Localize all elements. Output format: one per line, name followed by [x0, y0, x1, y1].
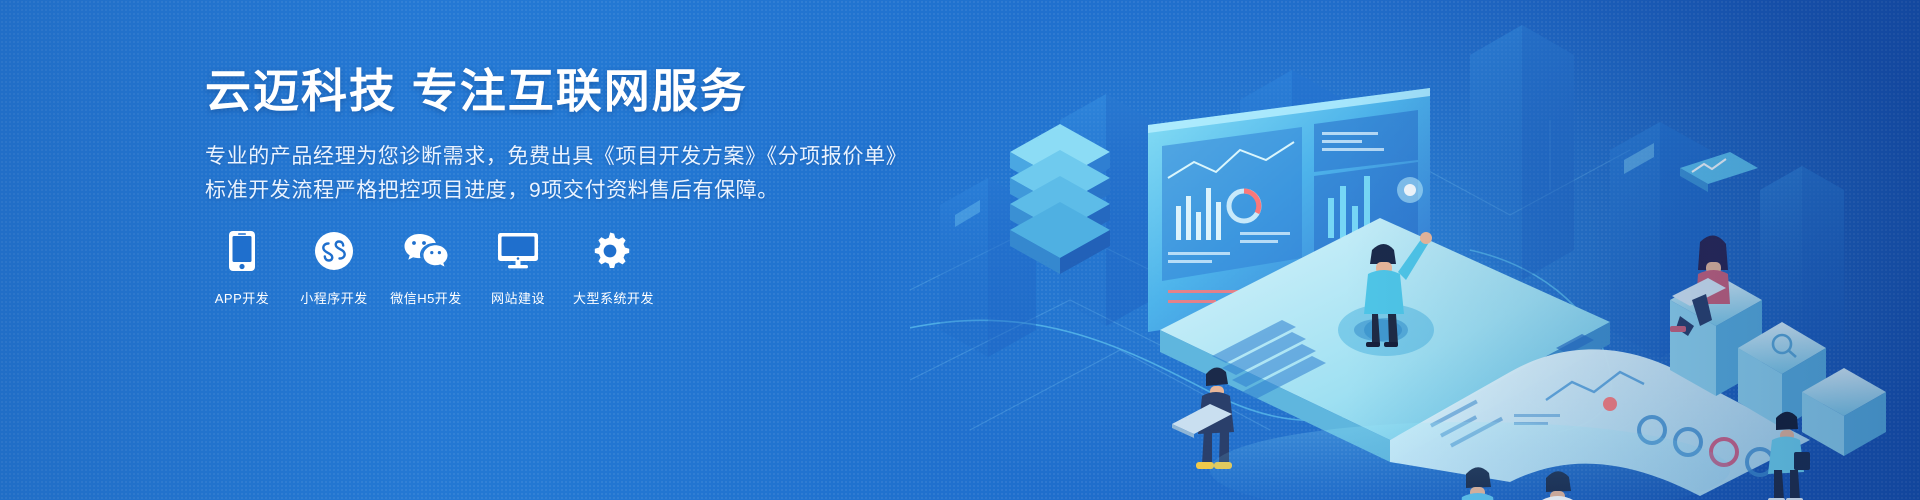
monitor-icon [481, 228, 555, 274]
hero-banner: 云迈科技 专注互联网服务 专业的产品经理为您诊断需求，免费出具《项目开发方案》《… [0, 0, 1920, 500]
service-label: 微信H5开发 [389, 288, 463, 307]
service-item-app[interactable]: APP开发 [205, 228, 279, 307]
page-title: 云迈科技 专注互联网服务 [205, 66, 945, 118]
service-item-wechat-h5[interactable]: 微信H5开发 [389, 228, 463, 307]
mini-program-icon [297, 228, 371, 274]
service-item-large-system[interactable]: 大型系统开发 [573, 228, 647, 307]
subtitle-line-2: 标准开发流程严格把控项目进度，9项交付资料售后有保障。 [205, 174, 945, 208]
service-label: 小程序开发 [297, 288, 371, 307]
service-icon-row: APP开发 小程序开发 [205, 228, 665, 307]
service-label: APP开发 [205, 288, 279, 307]
banner-copy: 云迈科技 专注互联网服务 专业的产品经理为您诊断需求，免费出具《项目开发方案》《… [205, 66, 945, 208]
isometric-tech-illustration [910, 0, 1920, 500]
subtitle-line-1: 专业的产品经理为您诊断需求，免费出具《项目开发方案》《分项报价单》 [205, 140, 945, 174]
mobile-phone-icon [205, 228, 279, 274]
wechat-icon [389, 228, 463, 274]
service-label: 网站建设 [481, 288, 555, 307]
service-item-website[interactable]: 网站建设 [481, 228, 555, 307]
gear-icon [573, 228, 647, 274]
service-item-mini-program[interactable]: 小程序开发 [297, 228, 371, 307]
service-label: 大型系统开发 [573, 288, 647, 307]
